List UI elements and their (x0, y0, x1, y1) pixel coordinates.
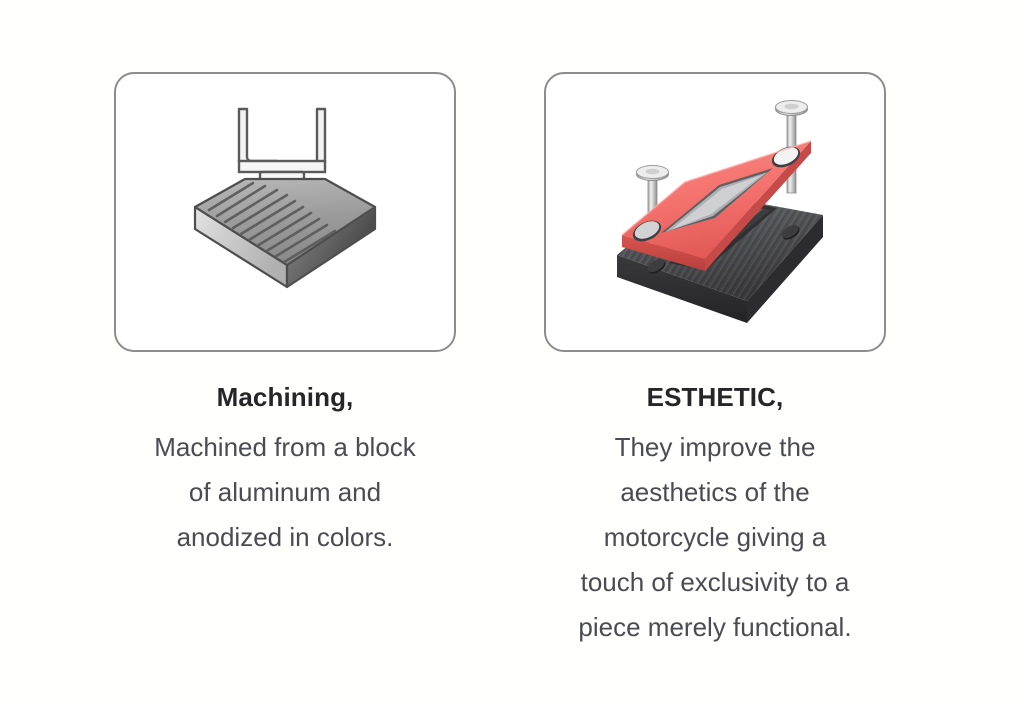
anodized-bracket-icon (565, 87, 865, 337)
description-line: piece merely functional. (539, 605, 891, 650)
description-line: touch of exclusivity to a (539, 560, 891, 605)
feature-description-machining: Machined from a block of aluminum and an… (113, 425, 457, 560)
description-line: motorcycle giving a (539, 515, 891, 560)
feature-column-esthetic: ESTHETIC, They improve the aesthetics of… (543, 72, 887, 650)
description-line: Machined from a block (113, 425, 457, 470)
description-line: of aluminum and (113, 470, 457, 515)
feature-title-machining: Machining, (217, 382, 354, 413)
features-page: Machining, Machined from a block of alum… (0, 0, 1024, 707)
feature-column-machining: Machining, Machined from a block of alum… (113, 72, 457, 560)
description-line: anodized in colors. (113, 515, 457, 560)
description-line: They improve the (539, 425, 891, 470)
icon-card-esthetic (544, 72, 886, 352)
feature-description-esthetic: They improve the aesthetics of the motor… (539, 425, 891, 650)
icon-card-machining (114, 72, 456, 352)
cnc-milling-icon (135, 87, 435, 337)
description-line: aesthetics of the (539, 470, 891, 515)
feature-title-esthetic: ESTHETIC, (647, 382, 784, 413)
